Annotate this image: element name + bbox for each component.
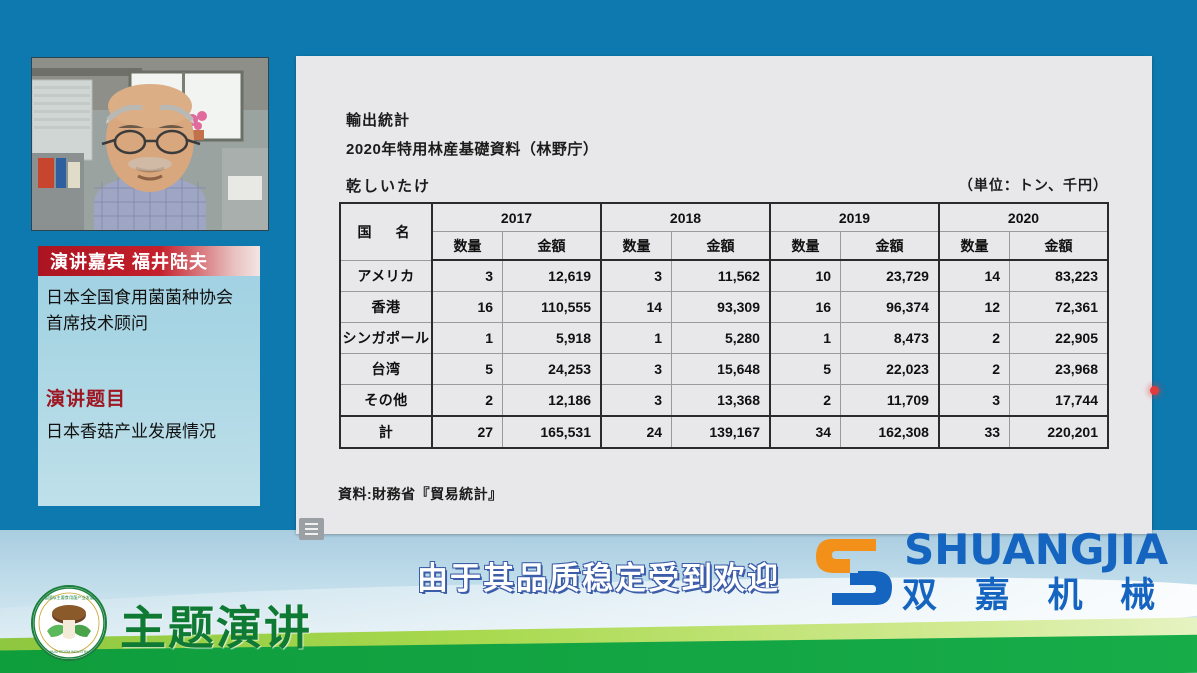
cell-2017-amt: 12,619 bbox=[503, 260, 601, 292]
speaker-name-banner: 演讲嘉宾 福井陆夫 bbox=[38, 246, 260, 276]
table-total-row: 計 27 165,531 24 139,167 34 162,308 33 22… bbox=[340, 416, 1108, 448]
cell-2019-qty: 1 bbox=[770, 323, 841, 354]
subheader-2020-amt: 金額 bbox=[1010, 232, 1108, 261]
table-row: シンガポール 1 5,918 1 5,280 1 8,473 2 22,905 bbox=[340, 323, 1108, 354]
cell-2018-qty: 14 bbox=[601, 292, 672, 323]
cell-2020-amt: 17,744 bbox=[1010, 385, 1108, 417]
cell-2017-amt: 24,253 bbox=[503, 354, 601, 385]
cell-2018-amt: 5,280 bbox=[672, 323, 770, 354]
cell-2019-amt: 8,473 bbox=[841, 323, 939, 354]
cell-2018-amt: 93,309 bbox=[672, 292, 770, 323]
column-header-year-2019: 2019 bbox=[770, 203, 939, 232]
total-2020-amt: 220,201 bbox=[1010, 416, 1108, 448]
presentation-slide: 輸出統計 2020年特用林産基礎資料（林野庁） 乾しいたけ （単位：トン、千円）… bbox=[296, 56, 1152, 534]
cell-2019-qty: 16 bbox=[770, 292, 841, 323]
cell-2019-amt: 23,729 bbox=[841, 260, 939, 292]
table-row: アメリカ 3 12,619 3 11,562 10 23,729 14 83,2… bbox=[340, 260, 1108, 292]
row-label-total: 計 bbox=[340, 416, 432, 448]
table-header-row-years: 国 名 2017 2018 2019 2020 bbox=[340, 203, 1108, 232]
slide-heading-2: 2020年特用林産基礎資料（林野庁） bbox=[346, 138, 598, 159]
cell-2020-qty: 12 bbox=[939, 292, 1010, 323]
total-2019-qty: 34 bbox=[770, 416, 841, 448]
cell-2017-qty: 5 bbox=[432, 354, 503, 385]
cell-2018-qty: 3 bbox=[601, 260, 672, 292]
cell-2020-qty: 2 bbox=[939, 354, 1010, 385]
export-statistics-table: 国 名 2017 2018 2019 2020 数量 金額 数量 金額 数量 金… bbox=[339, 202, 1109, 449]
column-header-year-2018: 2018 bbox=[601, 203, 770, 232]
cell-2019-qty: 5 bbox=[770, 354, 841, 385]
list-icon-line bbox=[305, 523, 318, 525]
subheader-2019-amt: 金額 bbox=[841, 232, 939, 261]
cell-2020-qty: 3 bbox=[939, 385, 1010, 417]
cell-2018-qty: 1 bbox=[601, 323, 672, 354]
table-row: 香港 16 110,555 14 93,309 16 96,374 12 72,… bbox=[340, 292, 1108, 323]
affiliation-line-2: 首席技术顾问 bbox=[46, 311, 256, 337]
cell-2017-qty: 3 bbox=[432, 260, 503, 292]
cell-2018-amt: 11,562 bbox=[672, 260, 770, 292]
cell-2019-amt: 96,374 bbox=[841, 292, 939, 323]
table-header-row-subs: 数量 金額 数量 金額 数量 金額 数量 金額 bbox=[340, 232, 1108, 261]
column-header-year-2017: 2017 bbox=[432, 203, 601, 232]
total-2017-qty: 27 bbox=[432, 416, 503, 448]
row-label: 香港 bbox=[340, 292, 432, 323]
cell-2020-amt: 72,361 bbox=[1010, 292, 1108, 323]
cell-2020-qty: 2 bbox=[939, 323, 1010, 354]
watermark-brand: SHUANGJIA 双 嘉 机 械 bbox=[806, 519, 1196, 615]
cell-2017-qty: 2 bbox=[432, 385, 503, 417]
table-row: 台湾 5 24,253 3 15,648 5 22,023 2 23,968 bbox=[340, 354, 1108, 385]
cell-2017-qty: 16 bbox=[432, 292, 503, 323]
sj-logo-mark-icon bbox=[806, 523, 902, 619]
subheader-2018-qty: 数量 bbox=[601, 232, 672, 261]
cell-2019-amt: 22,023 bbox=[841, 354, 939, 385]
subheader-2020-qty: 数量 bbox=[939, 232, 1010, 261]
list-icon-line bbox=[305, 533, 318, 535]
subheader-2018-amt: 金額 bbox=[672, 232, 770, 261]
screen-root: 第九届国际主要食用菌产业发展大会 MUSHROOM INDUSTRY 主题演讲 bbox=[0, 0, 1197, 673]
slide-heading-3: 乾しいたけ bbox=[346, 175, 431, 196]
row-label: 台湾 bbox=[340, 354, 432, 385]
slide-source-note: 資料:財務省『貿易統計』 bbox=[338, 484, 503, 504]
speaker-affiliation: 日本全国食用菌菌种协会 首席技术顾问 bbox=[46, 285, 256, 337]
total-2018-qty: 24 bbox=[601, 416, 672, 448]
cell-2017-amt: 12,186 bbox=[503, 385, 601, 417]
cell-2018-qty: 3 bbox=[601, 385, 672, 417]
subheader-2017-qty: 数量 bbox=[432, 232, 503, 261]
cell-2018-amt: 13,368 bbox=[672, 385, 770, 417]
total-2020-qty: 33 bbox=[939, 416, 1010, 448]
cell-2017-amt: 110,555 bbox=[503, 292, 601, 323]
cell-2020-amt: 23,968 bbox=[1010, 354, 1108, 385]
cell-2020-amt: 22,905 bbox=[1010, 323, 1108, 354]
cell-2019-qty: 2 bbox=[770, 385, 841, 417]
cell-2018-qty: 3 bbox=[601, 354, 672, 385]
row-label: シンガポール bbox=[340, 323, 432, 354]
talk-label: 演讲题目 bbox=[46, 384, 126, 411]
cell-2018-amt: 15,648 bbox=[672, 354, 770, 385]
cell-2017-amt: 5,918 bbox=[503, 323, 601, 354]
total-2019-amt: 162,308 bbox=[841, 416, 939, 448]
row-label: アメリカ bbox=[340, 260, 432, 292]
list-icon-line bbox=[305, 528, 318, 530]
cell-2019-qty: 10 bbox=[770, 260, 841, 292]
subheader-2017-amt: 金額 bbox=[503, 232, 601, 261]
column-header-year-2020: 2020 bbox=[939, 203, 1108, 232]
watermark-brand-cn: 双 嘉 机 械 bbox=[902, 567, 1169, 618]
speaker-banner-text: 演讲嘉宾 福井陆夫 bbox=[38, 248, 208, 274]
speaker-video-feed[interactable] bbox=[31, 57, 269, 231]
column-header-country: 国 名 bbox=[340, 203, 432, 260]
cell-2020-qty: 14 bbox=[939, 260, 1010, 292]
subheader-2019-qty: 数量 bbox=[770, 232, 841, 261]
table-row: その他 2 12,186 3 13,368 2 11,709 3 17,744 bbox=[340, 385, 1108, 417]
cell-2017-qty: 1 bbox=[432, 323, 503, 354]
talk-title: 日本香菇产业发展情况 bbox=[46, 420, 261, 444]
list-icon[interactable] bbox=[299, 518, 324, 540]
cell-2019-amt: 11,709 bbox=[841, 385, 939, 417]
red-marker-dot bbox=[1150, 386, 1159, 395]
svg-text:MUSHROOM INDUSTRY: MUSHROOM INDUSTRY bbox=[50, 650, 89, 654]
row-label: その他 bbox=[340, 385, 432, 417]
slide-unit-note: （単位：トン、千円） bbox=[959, 175, 1108, 195]
affiliation-line-1: 日本全国食用菌菌种协会 bbox=[46, 285, 256, 311]
section-title: 主题演讲 bbox=[120, 592, 312, 658]
total-2017-amt: 165,531 bbox=[503, 416, 601, 448]
total-2018-amt: 139,167 bbox=[672, 416, 770, 448]
slide-heading-1: 輸出統計 bbox=[346, 109, 410, 130]
cell-2020-amt: 83,223 bbox=[1010, 260, 1108, 292]
